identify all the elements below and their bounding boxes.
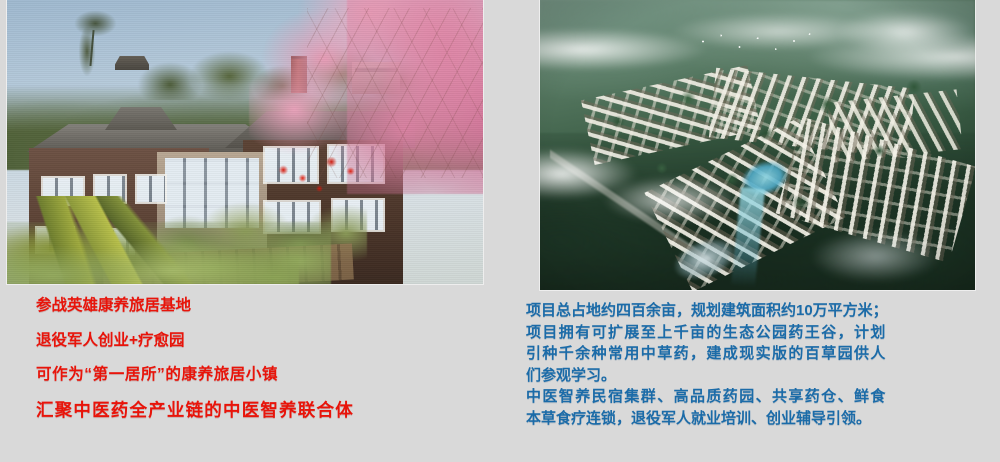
caption-left-line-2: 退役军人创业+疗愈园 <box>36 333 496 349</box>
caption-right-line-2: 项目拥有可扩展至上千亩的生态公园药王谷，计划 <box>526 322 986 344</box>
veterans-wellness-base-photo <box>7 0 483 284</box>
slide-canvas: 参战英雄康养旅居基地 退役军人创业+疗愈园 可作为“第一居所”的康养旅居小镇 汇… <box>0 0 1000 462</box>
caption-left-line-4: 汇聚中医药全产业链的中医智养联合体 <box>36 402 496 420</box>
caption-left-line-1: 参战英雄康养旅居基地 <box>36 298 496 314</box>
left-caption-block: 参战英雄康养旅居基地 退役军人创业+疗愈园 可作为“第一居所”的康养旅居小镇 汇… <box>36 298 496 419</box>
caption-right-line-1: 项目总占地约四百余亩，规划建筑面积约10万平方米； <box>526 300 986 322</box>
caption-right-line-6: 本草食疗连锁，退役军人就业培训、创业辅导引领。 <box>526 408 986 430</box>
photo-vignette-overlay <box>540 0 975 290</box>
foreground-groundcover <box>7 236 299 284</box>
right-caption-block: 项目总占地约四百余亩，规划建筑面积约10万平方米； 项目拥有可扩展至上千亩的生态… <box>526 300 986 429</box>
caption-right-line-4: 们参观学习。 <box>526 365 986 387</box>
caption-right-line-5: 中医智养民宿集群、高品质药园、共享药仓、鲜食 <box>526 386 986 408</box>
hilltop-pavilion <box>115 56 149 70</box>
caption-left-line-3: 可作为“第一居所”的康养旅居小镇 <box>36 367 496 383</box>
aerial-resort-rendering <box>540 0 975 290</box>
caption-right-line-3: 引种千余种常用中草药，建成现实版的百草园供人 <box>526 343 986 365</box>
